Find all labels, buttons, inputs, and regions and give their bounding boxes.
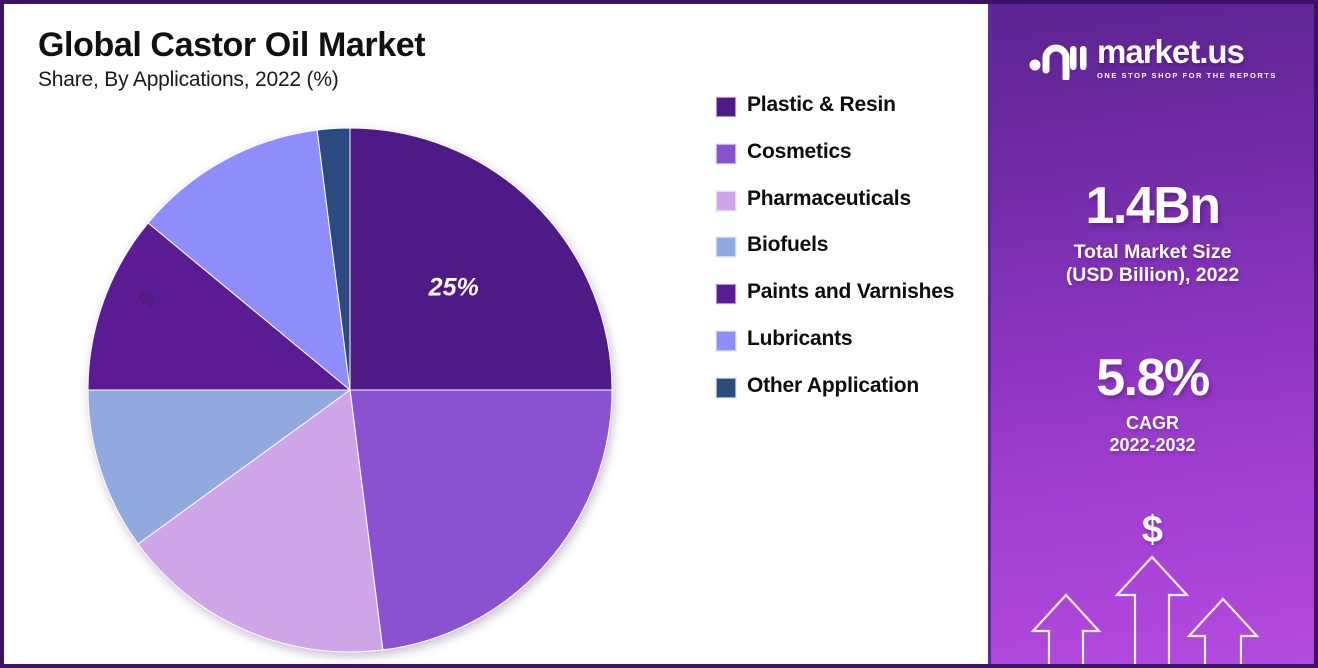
legend-item-label: Other Application bbox=[747, 373, 919, 399]
slice-label-plastic-resin: 25% bbox=[428, 273, 479, 301]
legend-item-label: Lubricants bbox=[747, 326, 852, 352]
chart-legend: Plastic & ResinCosmeticsPharmaceuticalsB… bbox=[716, 92, 981, 420]
brand-stats-panel: market.us ONE STOP SHOP FOR THE REPORTS … bbox=[991, 4, 1314, 664]
stat-market-size-value: 1.4Bn bbox=[991, 180, 1314, 232]
stat-market-size-caption-line2: (USD Billion), 2022 bbox=[991, 264, 1314, 287]
stat-cagr-caption: CAGR 2022-2032 bbox=[991, 413, 1314, 456]
pie-chart: 25% % bbox=[84, 124, 616, 656]
legend-swatch-icon bbox=[716, 284, 736, 304]
legend-item-biofuels[interactable]: Biofuels bbox=[716, 232, 981, 258]
legend-swatch-icon bbox=[716, 144, 736, 164]
brand-tagline: ONE STOP SHOP FOR THE REPORTS bbox=[1097, 71, 1277, 80]
legend-item-label: Pharmaceuticals bbox=[747, 186, 911, 212]
pie-slice-plastic-resin[interactable] bbox=[350, 128, 612, 390]
stat-market-size-caption-line1: Total Market Size bbox=[991, 241, 1314, 264]
legend-item-label: Biofuels bbox=[747, 232, 828, 258]
legend-swatch-icon bbox=[716, 331, 736, 351]
pie-chart-svg: 25% % bbox=[84, 124, 616, 656]
legend-item-cosmetics[interactable]: Cosmetics bbox=[716, 139, 981, 165]
title-block: Global Castor Oil Market Share, By Appli… bbox=[38, 26, 425, 92]
legend-swatch-icon bbox=[716, 237, 736, 257]
pie-slice-cosmetics[interactable] bbox=[350, 390, 612, 650]
brand-name: market.us bbox=[1097, 35, 1244, 68]
legend-item-pharmaceuticals[interactable]: Pharmaceuticals bbox=[716, 186, 981, 212]
legend-item-plastic-resin[interactable]: Plastic & Resin bbox=[716, 92, 981, 118]
legend-swatch-icon bbox=[716, 378, 736, 398]
brand-logo[interactable]: market.us ONE STOP SHOP FOR THE REPORTS bbox=[991, 34, 1314, 80]
legend-swatch-icon bbox=[716, 97, 736, 117]
growth-arrows-decoration: $ bbox=[991, 499, 1314, 664]
stat-market-size-caption: Total Market Size (USD Billion), 2022 bbox=[991, 241, 1314, 288]
stat-cagr-caption-line2: 2022-2032 bbox=[991, 435, 1314, 457]
page-subtitle: Share, By Applications, 2022 (%) bbox=[38, 68, 425, 92]
legend-item-paints-and-varnishes[interactable]: Paints and Varnishes bbox=[716, 279, 981, 305]
market-us-logo-icon bbox=[1028, 34, 1088, 80]
legend-swatch-icon bbox=[716, 191, 736, 211]
infographic-canvas: Global Castor Oil Market Share, By Appli… bbox=[0, 0, 1318, 668]
chart-pane: Global Castor Oil Market Share, By Appli… bbox=[4, 4, 989, 664]
stat-cagr: 5.8% CAGR 2022-2032 bbox=[991, 352, 1314, 456]
slice-label-paints-varnishes: % bbox=[138, 290, 155, 311]
legend-item-lubricants[interactable]: Lubricants bbox=[716, 326, 981, 352]
legend-item-label: Plastic & Resin bbox=[747, 92, 896, 118]
stat-market-size: 1.4Bn Total Market Size (USD Billion), 2… bbox=[991, 180, 1314, 288]
dollar-sign-icon: $ bbox=[991, 509, 1314, 552]
legend-item-label: Cosmetics bbox=[747, 139, 851, 165]
legend-item-label: Paints and Varnishes bbox=[747, 279, 954, 305]
stat-cagr-caption-line1: CAGR bbox=[991, 413, 1314, 435]
stat-cagr-value: 5.8% bbox=[991, 352, 1314, 404]
legend-item-other-application[interactable]: Other Application bbox=[716, 373, 981, 399]
page-title: Global Castor Oil Market bbox=[38, 26, 425, 64]
